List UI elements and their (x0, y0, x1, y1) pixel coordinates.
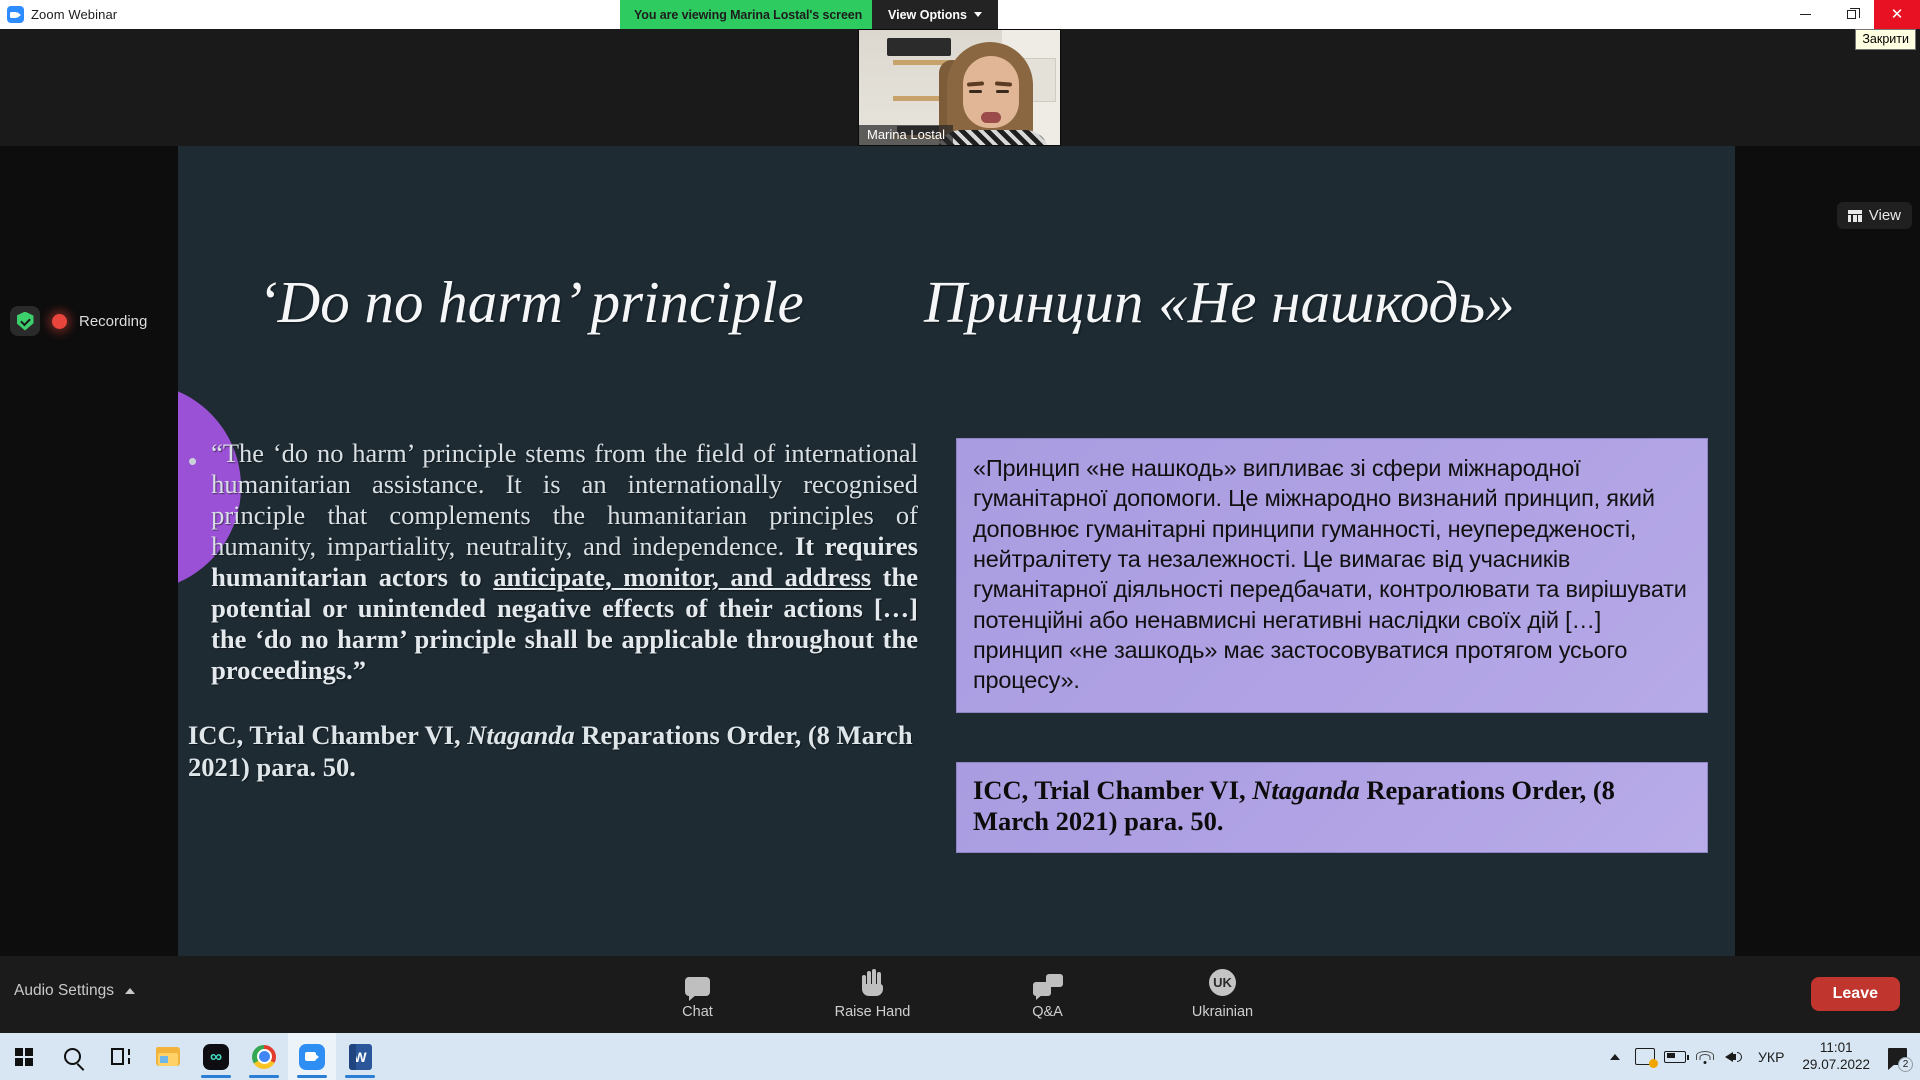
citation-case-name: Ntaganda (467, 720, 575, 750)
view-options-button[interactable]: View Options (872, 0, 998, 29)
language-badge: UK (1209, 969, 1236, 996)
qa-label: Q&A (1032, 1004, 1063, 1020)
chevron-up-icon (1610, 1054, 1620, 1060)
windows-taskbar: ∞ W УКР 11:01 29.07.2022 (0, 1033, 1920, 1080)
language-label: Ukrainian (1192, 1004, 1253, 1020)
task-view-button[interactable] (96, 1033, 144, 1080)
person-shoulders (937, 130, 1049, 146)
chat-bubble-icon (685, 970, 710, 996)
webex-button[interactable]: ∞ (192, 1033, 240, 1080)
person-eye (996, 90, 1009, 93)
wifi-icon (1695, 1049, 1715, 1064)
close-button-tooltip: Закрити (1855, 29, 1916, 50)
word-button[interactable]: W (336, 1033, 384, 1080)
qa-bubbles-icon (1033, 970, 1063, 996)
person-eye (969, 90, 982, 93)
raise-hand-button[interactable]: Raise Hand (818, 970, 928, 1020)
leave-button[interactable]: Leave (1811, 977, 1900, 1011)
screen-share-banner-text: You are viewing Marina Lostal's screen (634, 8, 862, 22)
control-bar-center: Chat Raise Hand Q&A UK Ukrainian (0, 956, 1920, 1033)
start-button[interactable] (0, 1033, 48, 1080)
citation-box-ukrainian: ICC, Trial Chamber VI, Ntaganda Reparati… (956, 762, 1708, 854)
recording-indicator: Recording (10, 306, 147, 336)
chrome-button[interactable] (240, 1033, 288, 1080)
zoom-icon (299, 1044, 325, 1070)
close-button[interactable]: ✕ (1874, 0, 1920, 29)
running-indicator (249, 1075, 279, 1078)
quote-part-underline: anticipate, monitor, and address (493, 562, 871, 592)
show-hidden-icons-button[interactable] (1600, 1033, 1630, 1080)
shared-screen-stage: Recording View ‘Do no harm’ principle Пр… (0, 146, 1920, 956)
running-indicator (297, 1075, 327, 1078)
zoom-webinar-window: Zoom Webinar You are viewing Marina Lost… (0, 0, 1920, 1080)
grid-view-icon (1848, 210, 1862, 222)
slide-content-columns: • “The ‘do no harm’ principle stems from… (178, 438, 1735, 918)
language-uk-icon: UK (1209, 970, 1236, 996)
shelf-object (887, 38, 951, 56)
title-bar: Zoom Webinar You are viewing Marina Lost… (0, 0, 1920, 29)
recording-label: Recording (79, 313, 147, 330)
citation-prefix: ICC, Trial Chamber VI, (188, 720, 467, 750)
running-indicator (345, 1075, 375, 1078)
slide-column-english: • “The ‘do no harm’ principle stems from… (178, 438, 938, 918)
system-tray: УКР 11:01 29.07.2022 2 (1600, 1033, 1920, 1080)
raise-hand-label: Raise Hand (835, 1004, 911, 1020)
running-indicator (201, 1075, 231, 1078)
slide-title-row: ‘Do no harm’ principle Принцип «Не нашко… (178, 272, 1735, 334)
webex-icon: ∞ (203, 1044, 229, 1070)
quote-text-english: “The ‘do no harm’ principle stems from t… (211, 438, 918, 686)
battery-icon (1664, 1051, 1686, 1063)
citation-case-name: Ntaganda (1252, 775, 1360, 805)
battery-tray-icon[interactable] (1660, 1033, 1690, 1080)
quote-box-ukrainian: «Принцип «не нашкодь» випливає зі сфери … (956, 438, 1708, 713)
qa-button[interactable]: Q&A (993, 970, 1103, 1020)
quote-text-ukrainian: «Принцип «не нашкодь» випливає зі сфери … (973, 455, 1687, 693)
bullet-item: • “The ‘do no harm’ principle stems from… (188, 438, 918, 686)
chevron-down-icon (974, 12, 982, 17)
minimize-button[interactable] (1782, 0, 1828, 29)
screen-share-banner: You are viewing Marina Lostal's screen (620, 0, 876, 29)
zoom-logo-icon (7, 6, 24, 23)
language-interpretation-button[interactable]: UK Ukrainian (1168, 970, 1278, 1020)
slide-column-ukrainian: «Принцип «не нашкодь» випливає зі сфери … (938, 438, 1708, 918)
slide-title-english: ‘Do no harm’ principle (258, 272, 878, 334)
onedrive-sync-icon (1635, 1048, 1655, 1065)
task-view-icon (111, 1048, 130, 1065)
bullet-marker-icon: • (188, 438, 197, 686)
notification-center-button[interactable]: 2 (1880, 1033, 1914, 1080)
participant-name-label: Marina Lostal (859, 125, 953, 145)
clock[interactable]: 11:01 29.07.2022 (1792, 1040, 1880, 1072)
volume-tray-icon[interactable] (1720, 1033, 1750, 1080)
onedrive-tray-icon[interactable] (1630, 1033, 1660, 1080)
notification-count-badge: 2 (1898, 1057, 1913, 1072)
word-icon: W (349, 1044, 372, 1070)
view-button-label: View (1869, 207, 1901, 224)
participant-video-thumbnail[interactable]: Marina Lostal (858, 29, 1061, 146)
search-button[interactable] (48, 1033, 96, 1080)
speaker-icon (1725, 1049, 1745, 1065)
security-shield-button[interactable] (10, 306, 40, 336)
zoom-taskbar-button[interactable] (288, 1033, 336, 1080)
view-layout-button[interactable]: View (1837, 202, 1912, 229)
person-mouth (981, 112, 1001, 123)
maximize-button[interactable] (1828, 0, 1874, 29)
window-title: Zoom Webinar (31, 7, 117, 22)
chrome-icon (252, 1045, 276, 1069)
title-bar-left: Zoom Webinar (0, 6, 117, 23)
clock-time: 11:01 (1802, 1040, 1870, 1056)
raise-hand-icon (862, 970, 884, 996)
window-controls: ✕ (1782, 0, 1920, 29)
search-icon (64, 1048, 81, 1065)
file-explorer-button[interactable] (144, 1033, 192, 1080)
recording-dot-icon (52, 314, 67, 329)
shield-check-icon (17, 312, 34, 331)
folder-icon (156, 1047, 180, 1066)
view-options-label: View Options (888, 8, 967, 22)
maximize-icon (1847, 10, 1856, 19)
meeting-control-bar: Audio Settings Chat Raise Hand Q&A UK (0, 956, 1920, 1033)
presentation-slide: ‘Do no harm’ principle Принцип «Не нашко… (178, 146, 1735, 956)
clock-date: 29.07.2022 (1802, 1057, 1870, 1073)
chat-button[interactable]: Chat (643, 970, 753, 1020)
chat-label: Chat (682, 1004, 713, 1020)
close-icon: ✕ (1891, 7, 1904, 22)
network-tray-icon[interactable] (1690, 1033, 1720, 1080)
citation-english: ICC, Trial Chamber VI, Ntaganda Reparati… (188, 720, 918, 784)
citation-prefix: ICC, Trial Chamber VI, (973, 775, 1252, 805)
slide-title-ukrainian: Принцип «Не нашкодь» (924, 272, 1515, 334)
windows-logo-icon (15, 1048, 33, 1066)
language-indicator[interactable]: УКР (1750, 1049, 1792, 1065)
